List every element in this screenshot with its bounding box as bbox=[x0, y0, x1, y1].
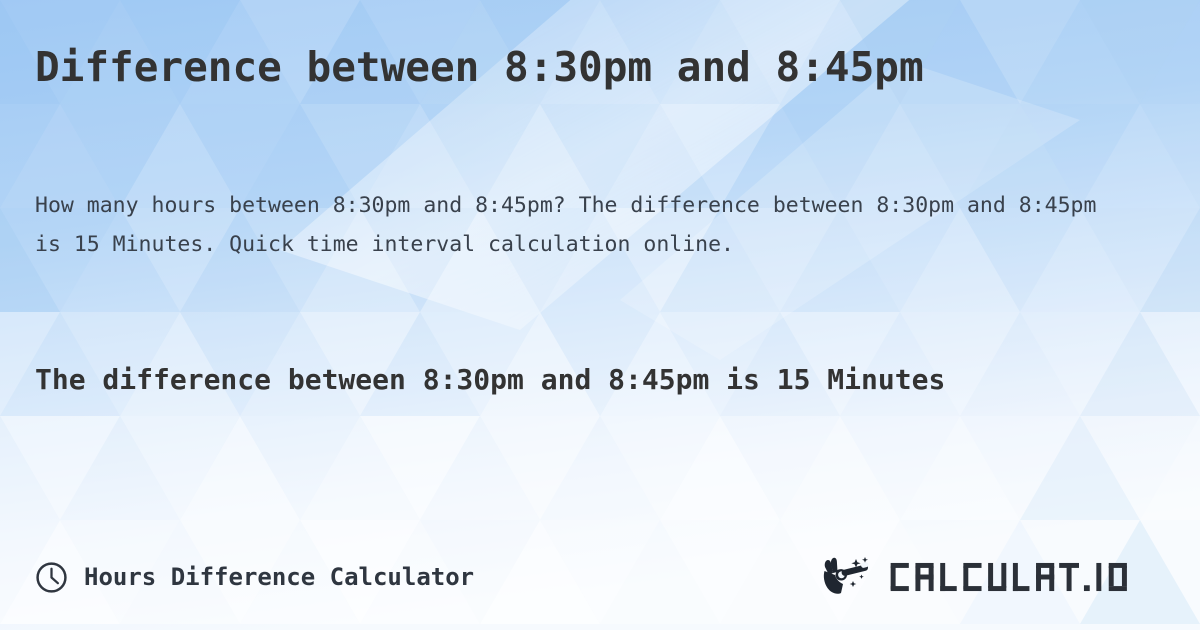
intro-paragraph: How many hours between 8:30pm and 8:45pm… bbox=[35, 186, 1130, 264]
brand-logo[interactable] bbox=[821, 555, 1153, 599]
hand-magic-wand-icon bbox=[821, 555, 881, 599]
clock-icon bbox=[35, 561, 68, 594]
result-heading: The difference between 8:30pm and 8:45pm… bbox=[35, 355, 1155, 405]
footer-tool-label: Hours Difference Calculator bbox=[84, 563, 474, 591]
footer: Hours Difference Calculator bbox=[0, 534, 1200, 630]
brand-wordmark bbox=[889, 558, 1153, 596]
page-title: Difference between 8:30pm and 8:45pm bbox=[35, 42, 1175, 92]
footer-tool[interactable]: Hours Difference Calculator bbox=[35, 561, 474, 594]
page-container: Difference between 8:30pm and 8:45pm How… bbox=[0, 0, 1200, 630]
